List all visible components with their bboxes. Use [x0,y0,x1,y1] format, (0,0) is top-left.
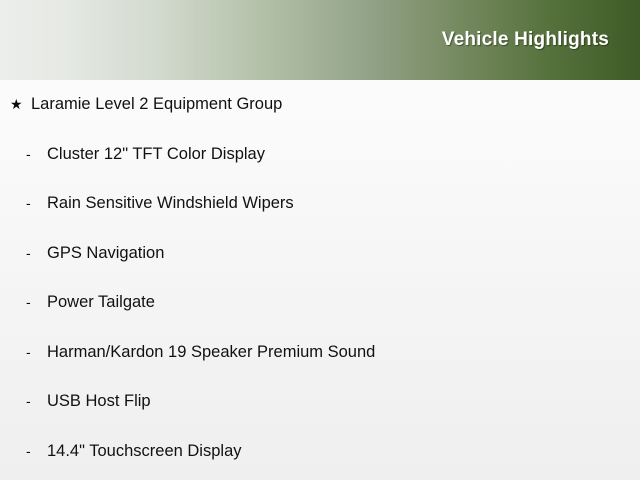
highlight-label: Cluster 12" TFT Color Display [47,130,265,180]
highlight-label: Harman/Kardon 19 Speaker Premium Sound [47,328,375,378]
highlight-label: Power Tailgate [47,278,155,328]
star-bullet-icon: ★ [10,80,31,130]
vehicle-highlights-page: Vehicle Highlights ★Laramie Level 2 Equi… [0,0,640,480]
dash-bullet-icon: - [26,328,47,378]
highlight-sub-row: -GPS Navigation [0,229,640,279]
highlight-label: Laramie Level 2 Equipment Group [31,80,282,130]
highlight-label: GPS Navigation [47,229,164,279]
highlight-label: Rain Sensitive Windshield Wipers [47,179,294,229]
dash-bullet-icon: - [26,427,47,477]
highlight-sub-row: -Harman/Kardon 19 Speaker Premium Sound [0,328,640,378]
highlights-list: ★Laramie Level 2 Equipment Group-Cluster… [0,80,640,476]
dash-bullet-icon: - [26,229,47,279]
header-banner: Vehicle Highlights [0,0,640,80]
dash-bullet-icon: - [26,278,47,328]
highlight-sub-row: -Cluster 12" TFT Color Display [0,130,640,180]
dash-bullet-icon: - [26,179,47,229]
dash-bullet-icon: - [26,130,47,180]
highlight-group-row: ★Laramie Level 2 Equipment Group [0,80,640,130]
highlight-sub-row: -14.4" Touchscreen Display [0,427,640,477]
highlight-sub-row: -USB Host Flip [0,377,640,427]
highlight-sub-row: -Rain Sensitive Windshield Wipers [0,179,640,229]
page-title: Vehicle Highlights [442,28,609,52]
highlight-label: 14.4" Touchscreen Display [47,427,242,477]
highlight-label: USB Host Flip [47,377,151,427]
highlight-sub-row: -Power Tailgate [0,278,640,328]
dash-bullet-icon: - [26,377,47,427]
